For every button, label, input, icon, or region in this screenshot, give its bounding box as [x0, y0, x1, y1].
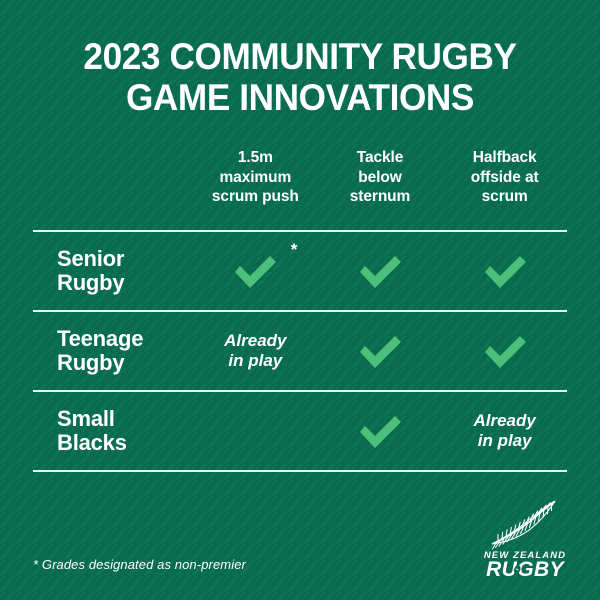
cell-senior-halfback-offside [442, 253, 567, 289]
poster-canvas: 2023 COMMUNITY RUGBY GAME INNOVATIONS 1.… [0, 0, 600, 600]
header-line: maximum [220, 169, 292, 186]
checkmark-icon [481, 333, 529, 369]
innovations-table: 1.5m maximum scrum push Tackle below ste… [33, 148, 567, 472]
header-line: Halfback [473, 149, 537, 166]
column-header-label: Tackle below sternum [318, 148, 443, 207]
row-label-senior-rugby: Senior Rugby [33, 247, 193, 295]
row-divider [33, 310, 567, 312]
cell-senior-tackle-sternum [318, 253, 443, 289]
already-in-play-text: Already in play [473, 411, 535, 451]
header-line: scrum [482, 188, 528, 205]
nz-rugby-logo: NEW ZEALAND RUGBY [470, 498, 580, 580]
row-label-text: Teenage Rugby [57, 326, 143, 375]
row-label-line: Small [57, 406, 115, 431]
row-label-text: Small Blacks [57, 406, 127, 455]
cell-teenage-halfback-offside [442, 333, 567, 369]
column-header-tackle-sternum: Tackle below sternum [318, 148, 443, 207]
header-line: offside at [471, 169, 539, 186]
header-line: sternum [350, 188, 410, 205]
row-label-line: Rugby [57, 350, 124, 375]
row-label-small-blacks: Small Blacks [33, 407, 193, 455]
page-title: 2023 COMMUNITY RUGBY GAME INNOVATIONS [0, 36, 600, 118]
checkmark-icon [356, 333, 404, 369]
table-row: Teenage Rugby Already in play [33, 312, 567, 390]
row-divider [33, 470, 567, 472]
row-divider [33, 230, 567, 232]
checkmark-icon [231, 253, 279, 289]
row-divider [33, 390, 567, 392]
title-line-1: 2023 COMMUNITY RUGBY [15, 36, 585, 77]
asterisk-note: * [291, 241, 298, 258]
cell-teenage-scrum-push: Already in play [193, 331, 318, 371]
row-label-line: Blacks [57, 430, 127, 455]
silver-fern-icon [492, 501, 555, 549]
footnote-text: * Grades designated as non-premier [33, 557, 246, 572]
header-line: scrum push [212, 188, 299, 205]
checkmark-icon [356, 253, 404, 289]
header-line: Tackle [357, 149, 404, 166]
checkmark-icon [481, 253, 529, 289]
cell-smallblacks-halfback-offside: Already in play [442, 411, 567, 451]
table-row: Small Blacks Already in play [33, 392, 567, 470]
column-header-label: 1.5m maximum scrum push [193, 148, 318, 207]
column-header-label: Halfback offside at scrum [442, 148, 567, 207]
cell-senior-scrum-push: * [193, 253, 318, 289]
table-header-row: 1.5m maximum scrum push Tackle below ste… [33, 148, 567, 230]
row-label-line: Teenage [57, 326, 143, 351]
header-line: below [358, 169, 401, 186]
cell-smallblacks-tackle-sternum [318, 413, 443, 449]
already-line: Already [473, 411, 535, 430]
title-line-2: GAME INNOVATIONS [15, 77, 585, 118]
logo-main-text: RUGBY [486, 558, 565, 580]
row-label-line: Rugby [57, 270, 124, 295]
row-label-text: Senior Rugby [57, 246, 124, 295]
column-header-scrum-push: 1.5m maximum scrum push [193, 148, 318, 207]
row-label-teenage-rugby: Teenage Rugby [33, 327, 193, 375]
already-line: in play [228, 351, 282, 370]
checkmark-icon [356, 413, 404, 449]
table-row: Senior Rugby * [33, 232, 567, 310]
already-line: in play [478, 431, 532, 450]
cell-teenage-tackle-sternum [318, 333, 443, 369]
check-wrapper: * [231, 253, 279, 289]
row-label-line: Senior [57, 246, 124, 271]
header-line: 1.5m [238, 149, 273, 166]
already-in-play-text: Already in play [224, 331, 286, 371]
column-header-halfback-offside: Halfback offside at scrum [442, 148, 567, 207]
already-line: Already [224, 331, 286, 350]
